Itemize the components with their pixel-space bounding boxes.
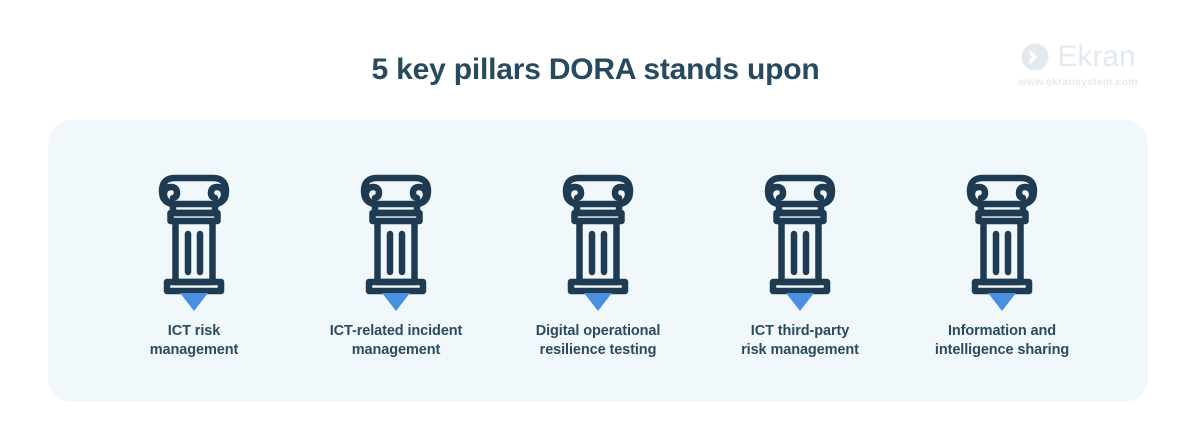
pillar-item-ict-third-party-risk-management[interactable]: ICT third-party risk management [700,164,900,360]
blue-down-triangle-icon [988,293,1016,311]
pillar-item-digital-operational-resilience-testing[interactable]: Digital operational resilience testing [498,164,698,360]
pillar-label: ICT third-party risk management [741,322,859,360]
blue-down-triangle-icon [180,293,208,311]
blue-down-triangle-icon [584,293,612,311]
pillar-item-information-and-intelligence-sharing[interactable]: Information and intelligence sharing [902,164,1102,360]
page-title: 5 key pillars DORA stands upon [0,50,1191,90]
ionic-column-icon [950,164,1054,312]
pillar-item-ict-risk-management[interactable]: ICT risk management [94,164,294,360]
ionic-column-icon [546,164,650,312]
pillar-label: ICT risk management [150,322,238,360]
pillar-label: Information and intelligence sharing [935,322,1069,360]
pillars-row: ICT risk management ICT-related incide [48,120,1148,402]
pillar-label: ICT-related incident management [330,322,463,360]
ionic-column-icon [748,164,852,312]
blue-down-triangle-icon [382,293,410,311]
blue-down-triangle-icon [786,293,814,311]
pillar-item-ict-related-incident-management[interactable]: ICT-related incident management [296,164,496,360]
ionic-column-icon [142,164,246,312]
pillars-panel: ICT risk management ICT-related incide [48,120,1148,402]
pillar-label: Digital operational resilience testing [536,322,661,360]
ionic-column-icon [344,164,448,312]
